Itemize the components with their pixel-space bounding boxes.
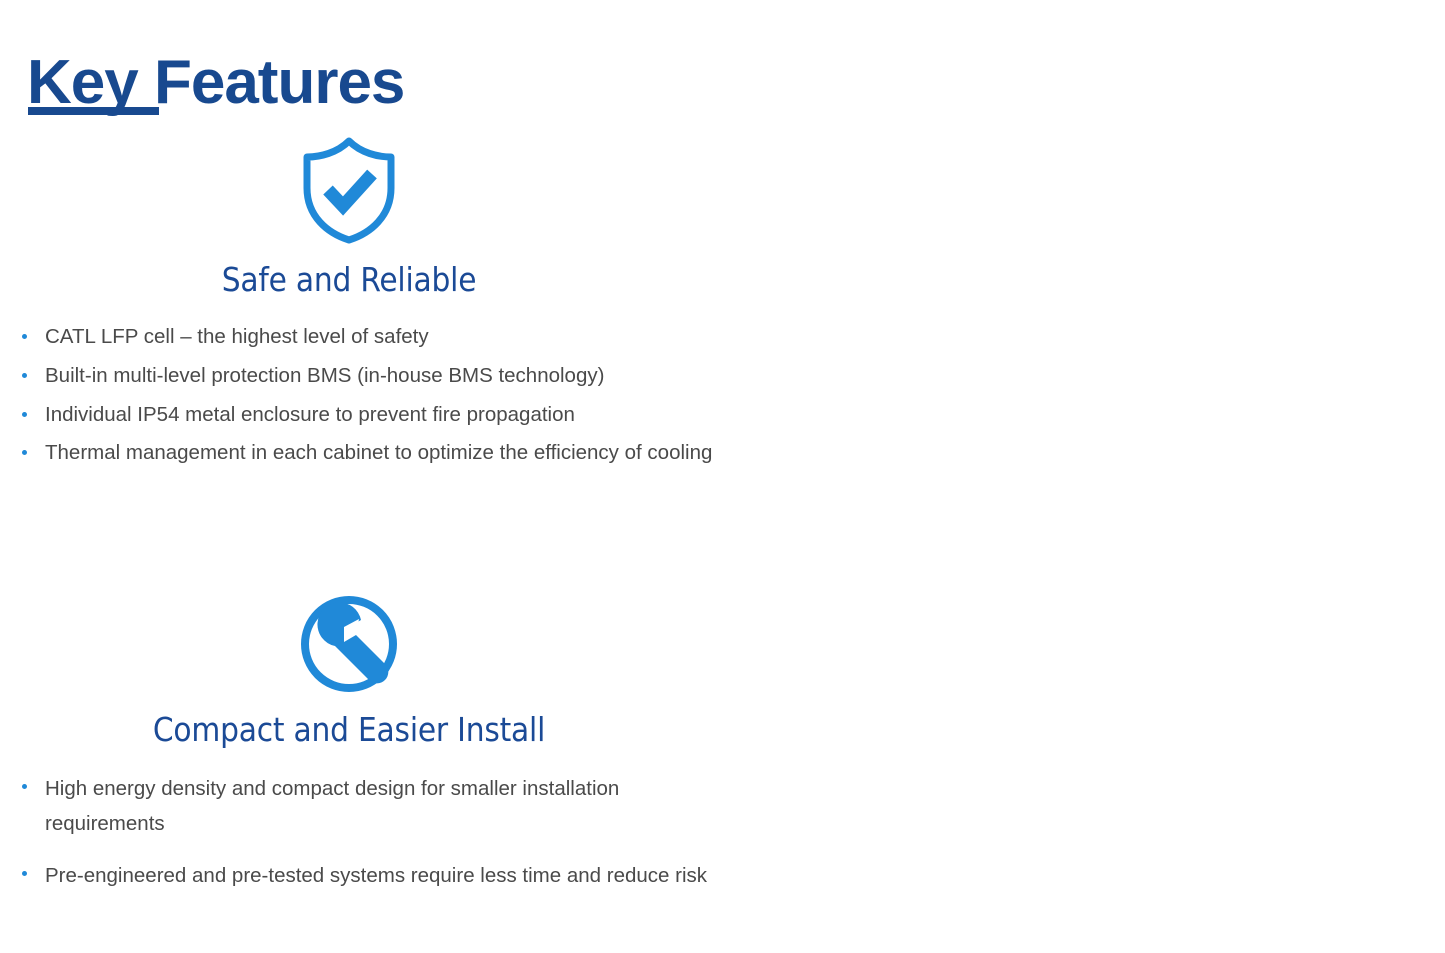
feature-card-modular-and-scalable: Modular and Scalable Modular and flexibl…	[742, 132, 1445, 582]
feature-heading: Modular and Scalable	[742, 260, 1445, 299]
bullet-text: Pre-engineered and pre-tested systems re…	[45, 864, 707, 887]
bullet-text: Individual IP54 metal enclosure to preve…	[45, 403, 575, 426]
wrench-circle-icon	[14, 582, 684, 694]
bullet-text: CATL LFP cell – the highest level of saf…	[45, 325, 429, 348]
feature-heading: Safe and Reliable	[14, 260, 684, 299]
title-underline-rule	[28, 107, 159, 115]
list-item: CATL LFP cell – the highest level of saf…	[14, 321, 714, 353]
feature-heading: Remote Monitoring	[742, 710, 1445, 749]
features-grid: Safe and Reliable CATL LFP cell – the hi…	[0, 132, 1445, 953]
monitor-chart-icon	[742, 582, 1445, 694]
feature-bullet-list: High energy density and compact design f…	[14, 771, 714, 893]
feature-bullet-list: CATL LFP cell – the highest level of saf…	[14, 321, 714, 469]
bullet-text: Thermal management in each cabinet to op…	[45, 441, 712, 464]
feature-card-safe-and-reliable: Safe and Reliable CATL LFP cell – the hi…	[0, 132, 742, 582]
feature-heading: Compact and Easier Install	[14, 710, 684, 749]
bullet-text: High energy density and compact design f…	[45, 777, 619, 835]
page-title: Key Features	[27, 50, 404, 115]
list-item: Thermal management in each cabinet to op…	[14, 437, 714, 469]
list-item: Pre-engineered and pre-tested systems re…	[14, 858, 714, 893]
shield-check-icon	[14, 132, 684, 244]
list-item: Built-in multi-level protection BMS (in-…	[14, 360, 714, 392]
list-item: High energy density and compact design f…	[14, 771, 714, 842]
list-item: Individual IP54 metal enclosure to preve…	[14, 399, 714, 431]
bullet-text: Built-in multi-level protection BMS (in-…	[45, 364, 604, 387]
feature-card-compact-and-easier-install: Compact and Easier Install High energy d…	[0, 582, 742, 953]
feature-card-remote-monitoring: Remote Monitoring 24/7 remotely monitor …	[742, 582, 1445, 953]
atom-molecule-icon	[742, 132, 1445, 244]
